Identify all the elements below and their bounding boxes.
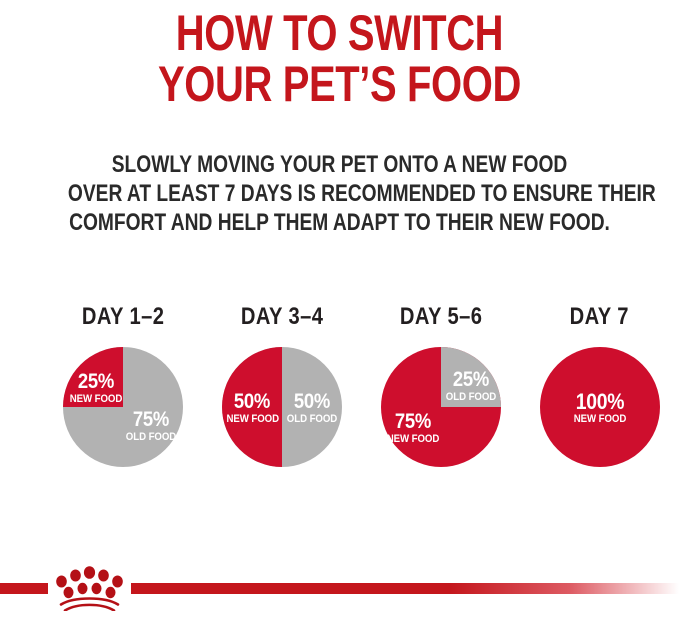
footer (0, 558, 679, 620)
subtitle-line-2: OVER AT LEAST 7 DAYS IS RECOMMENDED TO E… (68, 179, 611, 208)
footer-bar-left (0, 583, 48, 594)
pie-chart-row: DAY 1–2 25% NEW FOOD 75% OLD FOOD DAY 3–… (0, 305, 679, 485)
pie-slice-new-food-2 (222, 347, 282, 467)
royal-canin-crown-logo-icon (48, 565, 131, 611)
infographic-root: HOW TO SWITCH YOUR PET’S FOOD SLOWLY MOV… (0, 0, 679, 620)
pie-chart-day-7: DAY 7 100% NEW FOOD (520, 305, 679, 468)
pie-slice-new-food-4 (540, 347, 660, 467)
pie-chart-day-1-2: DAY 1–2 25% NEW FOOD 75% OLD FOOD (44, 305, 203, 468)
title-line-2: YOUR PET’S FOOD (68, 59, 611, 110)
subtitle-line-3: COMFORT AND HELP THEM ADAPT TO THEIR NEW… (68, 208, 611, 237)
day-label-2: DAY 3–4 (241, 305, 324, 329)
pie-graphic-2: 50% NEW FOOD 50% OLD FOOD (221, 346, 343, 468)
pie-graphic-4: 100% NEW FOOD (539, 346, 661, 468)
pie-chart-day-5-6: DAY 5–6 75% NEW FOOD 25% OLD FOOD (362, 305, 521, 468)
subtitle: SLOWLY MOVING YOUR PET ONTO A NEW FOOD O… (0, 150, 679, 237)
footer-bar-right (131, 583, 679, 594)
subtitle-line-1: SLOWLY MOVING YOUR PET ONTO A NEW FOOD (68, 150, 611, 179)
pie-slice-old-food-3 (441, 347, 501, 407)
day-label-3: DAY 5–6 (400, 305, 483, 329)
pie-slice-new-food-1 (63, 347, 123, 407)
pie-graphic-1: 25% NEW FOOD 75% OLD FOOD (62, 346, 184, 468)
day-label-1: DAY 1–2 (82, 305, 165, 329)
day-label-4: DAY 7 (570, 305, 629, 329)
page-title: HOW TO SWITCH YOUR PET’S FOOD (0, 8, 679, 110)
pie-graphic-3: 75% NEW FOOD 25% OLD FOOD (380, 346, 502, 468)
pie-chart-day-3-4: DAY 3–4 50% NEW FOOD 50% OLD FOOD (203, 305, 362, 468)
title-line-1: HOW TO SWITCH (68, 8, 611, 59)
